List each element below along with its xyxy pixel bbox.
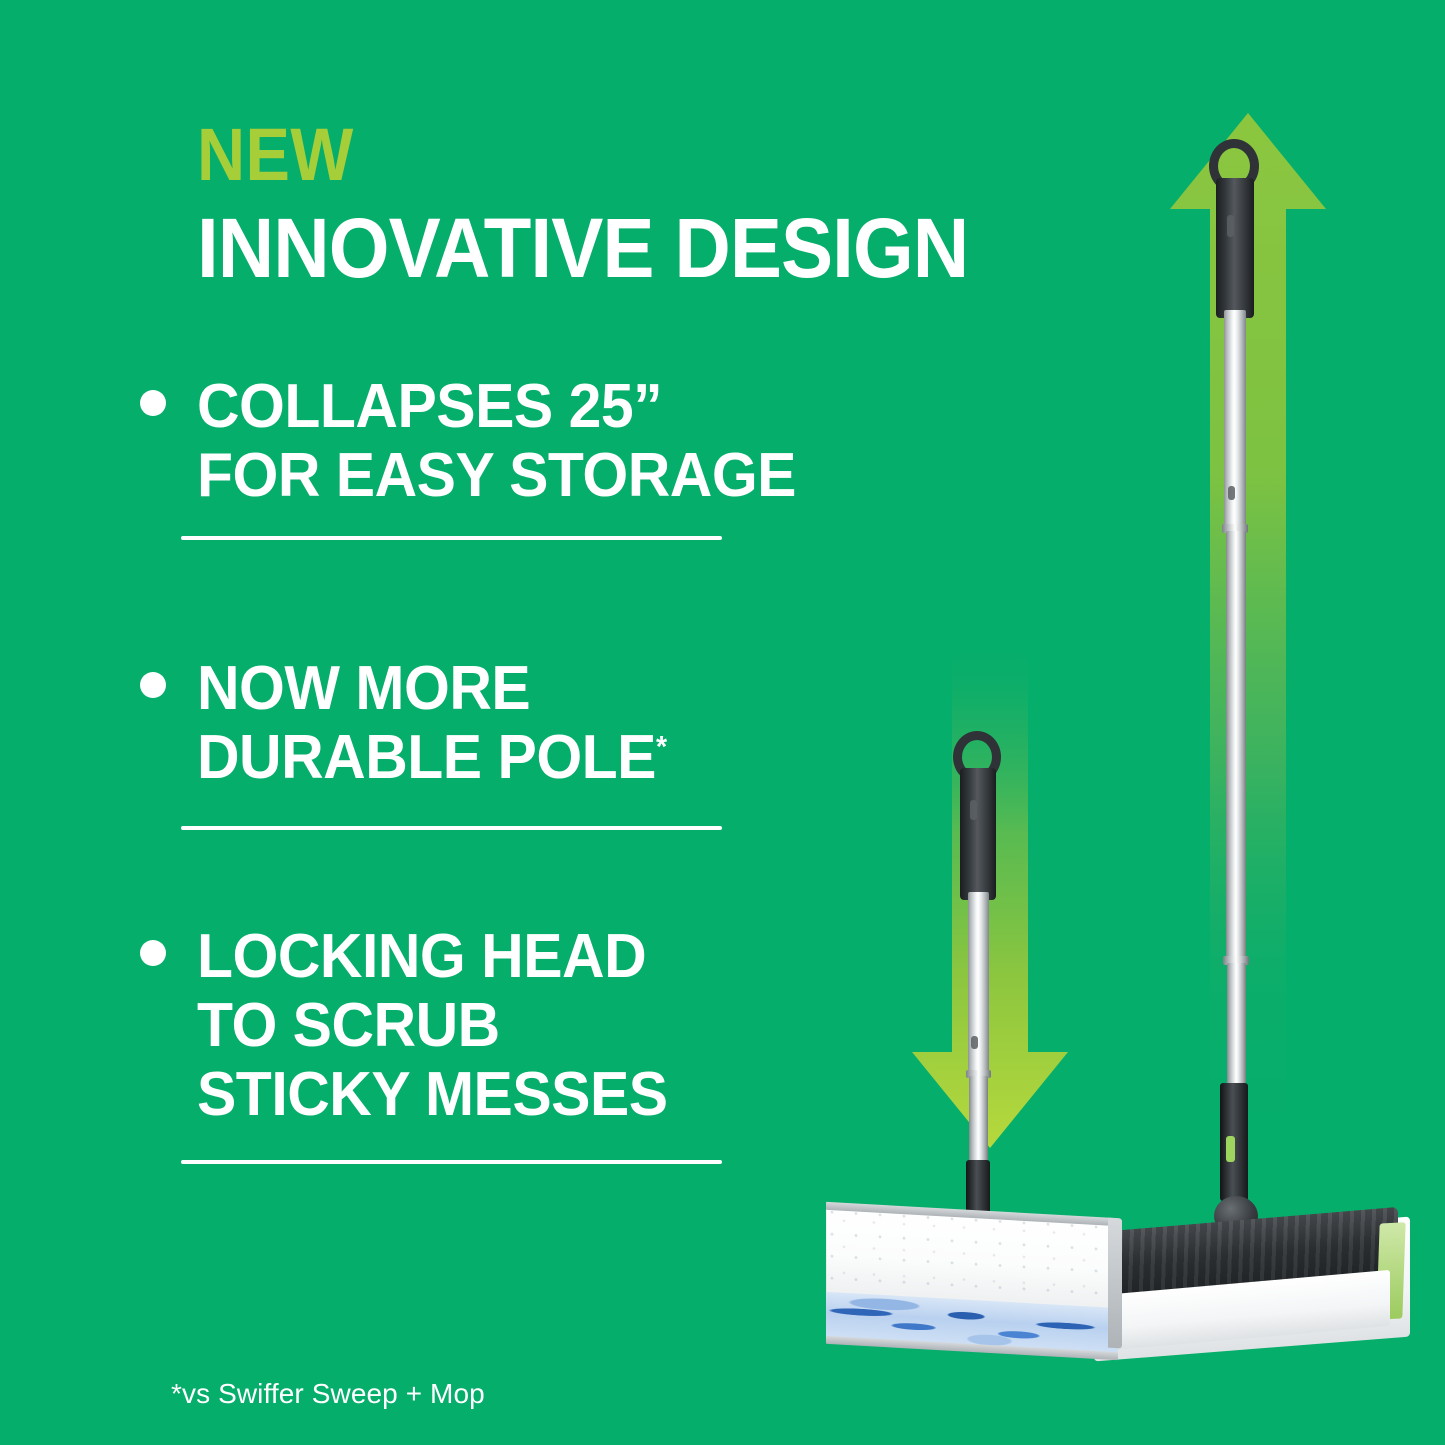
product-feature-graphic: NEW INNOVATIVE DESIGN COLLAPSES 25” FOR … [0, 0, 1445, 1445]
feature-3-line-1: LOCKING HEAD [197, 922, 668, 991]
feature-2-line-2: DURABLE POLE* [197, 723, 667, 792]
handle-grip [1216, 178, 1254, 318]
feature-2-line-2-row: DURABLE POLE* [140, 723, 691, 792]
grip-detail [1227, 215, 1234, 237]
feature-divider-1 [181, 536, 722, 540]
eyebrow-label: NEW [197, 118, 354, 192]
dry-sweeper-head [1090, 1205, 1420, 1370]
feature-3-line-3: STICKY MESSES [197, 1060, 668, 1129]
bullet-dot-icon [140, 672, 166, 698]
pole-lock-button-upper [1228, 486, 1235, 500]
grip-detail [970, 800, 977, 820]
feature-item-1: COLLAPSES 25” FOR EASY STORAGE [140, 372, 828, 510]
feature-1-line-2-row: FOR EASY STORAGE [140, 441, 828, 510]
copy-column: NEW INNOVATIVE DESIGN COLLAPSES 25” FOR … [0, 0, 860, 1445]
handle-grip [960, 768, 996, 900]
pole-lower-section [969, 1076, 988, 1166]
pole-mid-section [1226, 531, 1246, 961]
feature-3-line-1-row: LOCKING HEAD [140, 922, 692, 991]
feature-1-line-1: COLLAPSES 25” [197, 372, 796, 441]
feature-1-line-2: FOR EASY STORAGE [197, 441, 796, 510]
feature-divider-3 [181, 1160, 722, 1164]
footnote-marker: * [656, 730, 667, 763]
product-art-area [790, 0, 1445, 1445]
feature-item-2: NOW MORE DURABLE POLE* [140, 654, 691, 792]
feature-divider-2 [181, 826, 722, 830]
neck-green-indicator [1226, 1136, 1235, 1162]
pole-lock-button [971, 1036, 978, 1049]
feature-2-line-1: NOW MORE [197, 654, 667, 723]
bullet-dot-icon [140, 940, 166, 966]
feature-1-line-1-row: COLLAPSES 25” [140, 372, 828, 441]
feature-3-line-2: TO SCRUB [197, 991, 668, 1060]
feature-3-line-3-row: STICKY MESSES [140, 1060, 692, 1129]
feature-item-3: LOCKING HEAD TO SCRUB STICKY MESSES [140, 922, 692, 1129]
feature-3-line-2-row: TO SCRUB [140, 991, 692, 1060]
bullet-dot-icon [140, 390, 166, 416]
feature-2-line-2-text: DURABLE POLE [197, 723, 656, 792]
pole-lower-section [1227, 963, 1246, 1088]
footnote-text: *vs Swiffer Sweep + Mop [171, 1378, 485, 1410]
feature-2-line-1-row: NOW MORE [140, 654, 691, 723]
pad-right-cap [1108, 1218, 1122, 1349]
wet-pad-head [820, 1208, 1130, 1368]
